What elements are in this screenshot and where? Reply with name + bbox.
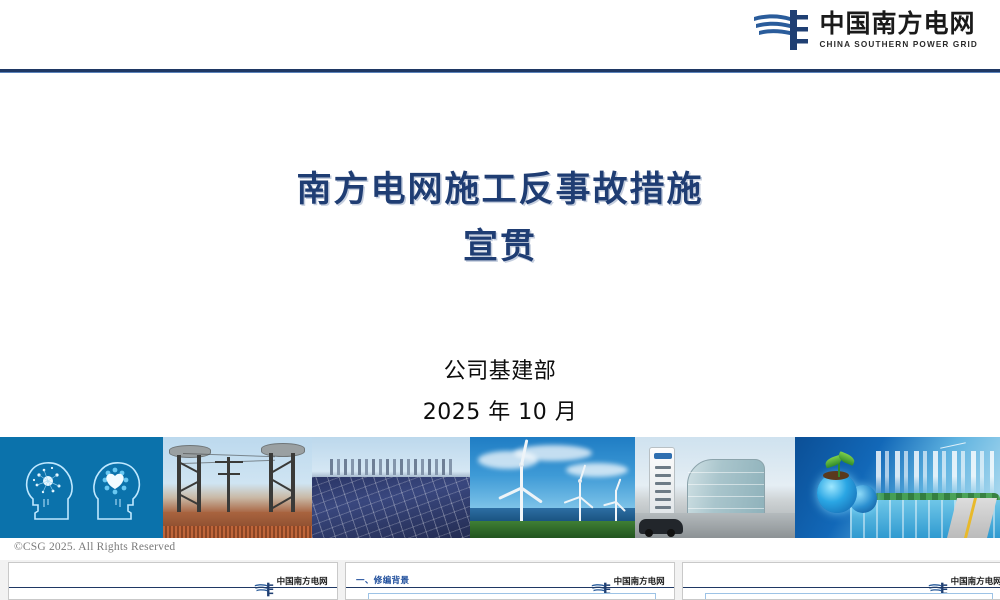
thumbnail-divider [683,587,1000,588]
transmission-tower-panel [163,437,312,538]
sprout-icon [825,453,855,477]
presentation-deck: 中国南方电网 CHINA SOUTHERN POWER GRID 南方电网施工反… [0,0,1000,600]
thumbnail-content-box [705,593,993,600]
slide-thumbnail[interactable]: 中国南方电网 CHINA SOUTHERN POWER GRID [8,562,338,600]
thumbnail-logo: 中国南方电网 CHINA SOUTHERN POWER GRID [254,571,328,600]
slide-thumbnail[interactable]: 一、修编背景 中国南方 [345,562,675,600]
pylon-mast [227,457,230,515]
header-divider-light [0,72,1000,73]
brain-heads-panel [0,437,163,538]
slide-subtitle: 公司基建部 2025 年 10 月 [0,352,1000,433]
city-skyline [876,451,994,497]
subtitle-date: 2025 年 10 月 [0,393,1000,434]
title-line-1: 南方电网施工反事故措施 [0,162,1000,219]
turbine-mast [520,465,523,521]
charging-station-panel [635,437,795,538]
solar-array [312,477,470,538]
csg-logo-icon [254,582,274,597]
city-skyline [330,459,452,475]
solar-cell-grid [312,477,470,538]
turbine-blade [521,487,543,504]
turbine-blade [498,487,522,500]
slide-title: 南方电网施工反事故措施 宣贯 [0,162,1000,275]
thumbnail-content-box [368,593,656,600]
brand-name-cn: 中国南方电网 [277,577,328,587]
tower-cap [169,445,211,458]
thumbnail-heading: 一、修编背景 [356,574,409,586]
station-signboard [649,447,675,521]
subtitle-department: 公司基建部 [0,352,1000,393]
wind-turbine [494,443,550,521]
csg-brand-logo: 中国南方电网 CHINA SOUTHERN POWER GRID [752,8,978,52]
wind-turbine [562,467,598,521]
turbine-blade [564,496,581,504]
copyright-notice: ©CSG 2025. All Rights Reserved [14,541,175,553]
turbine-blade [579,496,593,508]
csg-logo-icon [752,8,810,52]
thumbnail-divider [346,587,674,588]
wind-turbine-panel [470,437,635,538]
electric-car [639,519,683,534]
head-silhouette-right-icon [88,455,144,521]
pylon-arm [218,473,240,475]
brand-name-cn: 中国南方电网 [951,577,1000,587]
brand-name-cn: 中国南方电网 [614,577,665,587]
contrail [940,442,966,448]
wind-turbine [602,479,630,521]
slide-thumbnail-strip[interactable]: 中国南方电网 CHINA SOUTHERN POWER GRID 一、修编背景 [0,560,1000,600]
turbine-mast [615,490,617,521]
slide-thumbnail[interactable]: 中国南方电网 CHINA SOUTHERN POWER GRID [682,562,1000,600]
solar-farm-panel [312,437,470,538]
sign-header [654,453,672,459]
turbine-blade [579,465,586,482]
tower-cap [261,443,305,457]
turbine-blade [615,478,621,491]
grass [470,521,635,538]
brand-name-en: CHINA SOUTHERN POWER GRID [819,40,978,49]
title-line-2: 宣贯 [0,219,1000,276]
brand-name-cn: 中国南方电网 [819,11,978,37]
eco-city-panel [795,437,1000,538]
turbine-blade [520,439,528,465]
photo-band [0,437,1000,538]
thumbnail-divider [9,587,337,588]
tower-leg [291,453,295,517]
tower-leg [197,455,201,517]
title-slide: 中国南方电网 CHINA SOUTHERN POWER GRID 南方电网施工反… [0,0,1000,558]
head-silhouette-left-icon [22,455,78,521]
site-fence [163,526,312,538]
station-building [687,459,765,517]
turbine-mast [579,481,581,521]
